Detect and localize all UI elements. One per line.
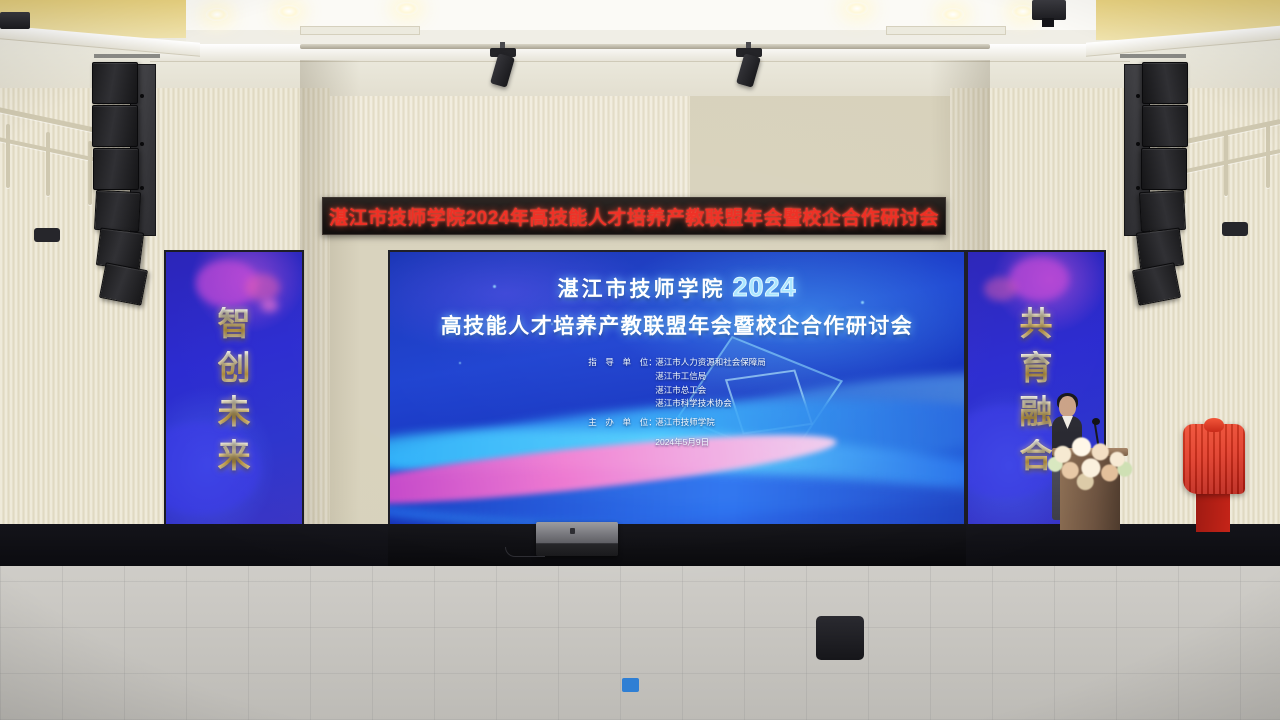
led-title-line1-group: 湛江市技师学院 2024 <box>557 272 796 303</box>
speaker-head <box>1059 396 1076 417</box>
led-year: 2024 <box>732 272 796 303</box>
stage-monitor-display <box>536 522 618 556</box>
led-left-char-1: 智 <box>218 307 251 340</box>
banner-text: 湛江市技师学院2024年高技能人才培养产教联盟年会暨校企合作研讨会 <box>329 203 939 230</box>
led-right-char-3: 融 <box>1020 395 1053 428</box>
line-array-speaker-right <box>1104 60 1194 310</box>
downlight <box>396 2 418 15</box>
ceiling-duct <box>300 26 420 35</box>
monitor-camera-dot <box>570 528 575 534</box>
event-banner: 湛江市技师学院2024年高技能人才培养产教联盟年会暨校企合作研讨会 <box>322 197 946 235</box>
ceiling-projector <box>0 12 30 29</box>
led-right-char-2: 育 <box>1020 351 1053 384</box>
ceiling-projector-mount <box>1042 18 1054 27</box>
wall-light-fixture-left <box>34 228 60 242</box>
drape-knot <box>1204 418 1224 432</box>
microphone-icon <box>1092 418 1100 425</box>
floral-arrangement <box>1042 432 1136 494</box>
bag-on-floor <box>816 616 864 660</box>
led-left-char-2: 创 <box>218 351 251 384</box>
host-label: 主办单位 <box>588 416 648 430</box>
led-main-content: 湛江市技师学院 2024 高技能人才培养产教联盟年会暨校企合作研讨会 指导单位 … <box>390 252 964 526</box>
line-array-speaker-left <box>86 60 176 310</box>
conference-hall-photo: 湛江市技师学院2024年高技能人才培养产教联盟年会暨校企合作研讨会 智 创 未 … <box>0 0 1280 720</box>
downlight <box>206 8 228 21</box>
guidance-unit: 湛江市科学技术协会 <box>655 397 766 411</box>
host-unit: 湛江市技师学院 <box>655 416 715 430</box>
event-date: 2024年5月9日 <box>655 436 766 450</box>
lighting-truss <box>300 44 990 49</box>
guidance-units-list: 湛江市人力资源和社会保障局 湛江市工信局 湛江市总工会 湛江市科学技术协会 <box>655 356 766 411</box>
led-screen-main: 湛江市技师学院 2024 高技能人才培养产教联盟年会暨校企合作研讨会 指导单位 … <box>388 250 966 528</box>
led-left-char-3: 未 <box>218 395 251 428</box>
led-institution-name: 湛江市技师学院 <box>557 273 725 303</box>
floor-marker <box>622 678 639 692</box>
host-unit-row: 主办单位 ： 湛江市技师学院 <box>588 416 766 430</box>
led-title-line2: 高技能人才培养产教联盟年会暨校企合作研讨会 <box>441 310 914 340</box>
led-left-char-4: 来 <box>218 439 251 472</box>
ceiling-duct <box>886 26 1006 35</box>
downlight <box>1012 5 1034 18</box>
guidance-unit: 湛江市总工会 <box>655 384 766 398</box>
wall-shadow-left <box>300 60 360 530</box>
auditorium-floor <box>0 566 1280 720</box>
ceiling-projector <box>1032 0 1066 20</box>
led-organizer-block: 指导单位 ： 湛江市人力资源和社会保障局 湛江市工信局 湛江市总工会 湛江市科学… <box>588 356 766 450</box>
guidance-units-row: 指导单位 ： 湛江市人力资源和社会保障局 湛江市工信局 湛江市总工会 湛江市科学… <box>588 356 766 411</box>
guidance-label: 指导单位 <box>588 356 648 411</box>
red-ceremonial-drape <box>1183 424 1245 494</box>
led-panel-left: 智 创 未 来 <box>164 250 304 528</box>
wall-light-fixture-right <box>1222 222 1248 236</box>
guidance-unit: 湛江市人力资源和社会保障局 <box>655 356 766 370</box>
downlight <box>942 8 964 21</box>
led-right-char-1: 共 <box>1020 307 1053 340</box>
monitor-cable <box>505 547 545 557</box>
stage-skirt <box>388 524 966 566</box>
led-left-text: 智 创 未 来 <box>166 252 302 526</box>
guidance-unit: 湛江市工信局 <box>655 370 766 384</box>
downlight <box>846 2 868 15</box>
downlight <box>278 5 300 18</box>
